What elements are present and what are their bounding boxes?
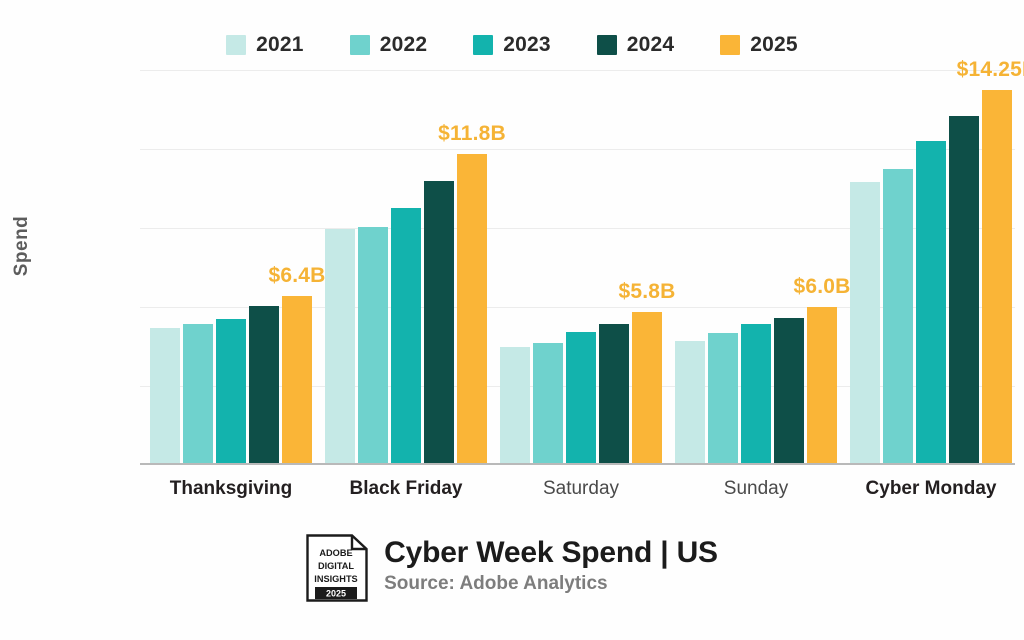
bar-sunday-2022[interactable]: [708, 333, 738, 465]
x-axis-label-cyber-monday: Cyber Monday: [866, 478, 997, 500]
bar-cyber-monday-2024[interactable]: [949, 116, 979, 465]
x-axis-label-sunday: Sunday: [724, 478, 788, 500]
chart-source: Source: Adobe Analytics: [384, 573, 718, 596]
bar-saturday-2024[interactable]: [599, 324, 629, 465]
bar-black-friday-2021[interactable]: [325, 229, 355, 465]
svg-text:ADOBE: ADOBE: [320, 548, 353, 558]
legend-item-label: 2022: [380, 34, 428, 55]
legend-item-2025[interactable]: 2025: [720, 34, 798, 55]
bar-sunday-2021[interactable]: [675, 341, 705, 465]
bar-cyber-monday-2025[interactable]: [982, 90, 1012, 465]
bar-thanksgiving-2022[interactable]: [183, 324, 213, 465]
legend-item-2024[interactable]: 2024: [597, 34, 675, 55]
bar-sunday-2023[interactable]: [741, 324, 771, 465]
legend-item-label: 2025: [750, 34, 798, 55]
bar-thanksgiving-2024[interactable]: [249, 306, 279, 465]
bar-black-friday-2022[interactable]: [358, 227, 388, 465]
chart-footer: ADOBE DIGITAL INSIGHTS 2025 Cyber Week S…: [0, 534, 1024, 602]
adobe-digital-insights-logo: ADOBE DIGITAL INSIGHTS 2025: [306, 534, 368, 602]
bar-saturday-2023[interactable]: [566, 332, 596, 465]
legend-item-label: 2021: [256, 34, 304, 55]
plot-area: $0$3B$6B$9B$12B$15B $6.4B$11.8B$5.8B$6.0…: [140, 70, 1015, 465]
legend-swatch-icon: [350, 35, 370, 55]
svg-text:2025: 2025: [326, 588, 346, 598]
legend-swatch-icon: [597, 35, 617, 55]
legend-item-2023[interactable]: 2023: [473, 34, 551, 55]
bar-thanksgiving-2025[interactable]: [282, 296, 312, 465]
legend-swatch-icon: [473, 35, 493, 55]
legend-swatch-icon: [226, 35, 246, 55]
x-axis-label-black-friday: Black Friday: [350, 478, 463, 500]
bar-thanksgiving-2021[interactable]: [150, 328, 180, 465]
footer-text-block: Cyber Week Spend | US Source: Adobe Anal…: [384, 534, 718, 595]
legend-swatch-icon: [720, 35, 740, 55]
bar-group-sunday: [675, 70, 837, 465]
bar-black-friday-2024[interactable]: [424, 181, 454, 465]
bar-value-label-sunday: $6.0B: [793, 275, 850, 299]
bar-cyber-monday-2021[interactable]: [850, 182, 880, 465]
x-axis-line: [140, 463, 1015, 465]
bar-saturday-2025[interactable]: [632, 312, 662, 465]
x-axis-label-saturday: Saturday: [543, 478, 619, 500]
bar-cyber-monday-2023[interactable]: [916, 141, 946, 465]
legend-item-label: 2023: [503, 34, 551, 55]
bar-group-saturday: [500, 70, 662, 465]
y-axis-title: Spend: [11, 206, 33, 286]
svg-text:DIGITAL: DIGITAL: [318, 561, 354, 571]
bar-value-label-saturday: $5.8B: [618, 280, 675, 304]
bar-group-cyber-monday: [850, 70, 1012, 465]
legend-item-label: 2024: [627, 34, 675, 55]
bar-saturday-2021[interactable]: [500, 347, 530, 466]
bar-value-label-black-friday: $11.8B: [438, 122, 506, 146]
bar-cyber-monday-2022[interactable]: [883, 169, 913, 465]
bar-black-friday-2023[interactable]: [391, 208, 421, 465]
chart-legend: 20212022202320242025: [0, 34, 1024, 55]
x-axis-label-thanksgiving: Thanksgiving: [170, 478, 292, 500]
bar-sunday-2025[interactable]: [807, 307, 837, 465]
bar-saturday-2022[interactable]: [533, 343, 563, 465]
bar-thanksgiving-2023[interactable]: [216, 319, 246, 465]
chart-container: 20212022202320242025 Spend $0$3B$6B$9B$1…: [0, 0, 1024, 640]
legend-item-2021[interactable]: 2021: [226, 34, 304, 55]
svg-text:INSIGHTS: INSIGHTS: [314, 574, 357, 584]
bar-value-label-cyber-monday: $14.25B: [957, 58, 1024, 82]
chart-title: Cyber Week Spend | US: [384, 536, 718, 570]
legend-item-2022[interactable]: 2022: [350, 34, 428, 55]
bar-sunday-2024[interactable]: [774, 318, 804, 465]
bar-black-friday-2025[interactable]: [457, 154, 487, 465]
bar-value-label-thanksgiving: $6.4B: [268, 264, 325, 288]
